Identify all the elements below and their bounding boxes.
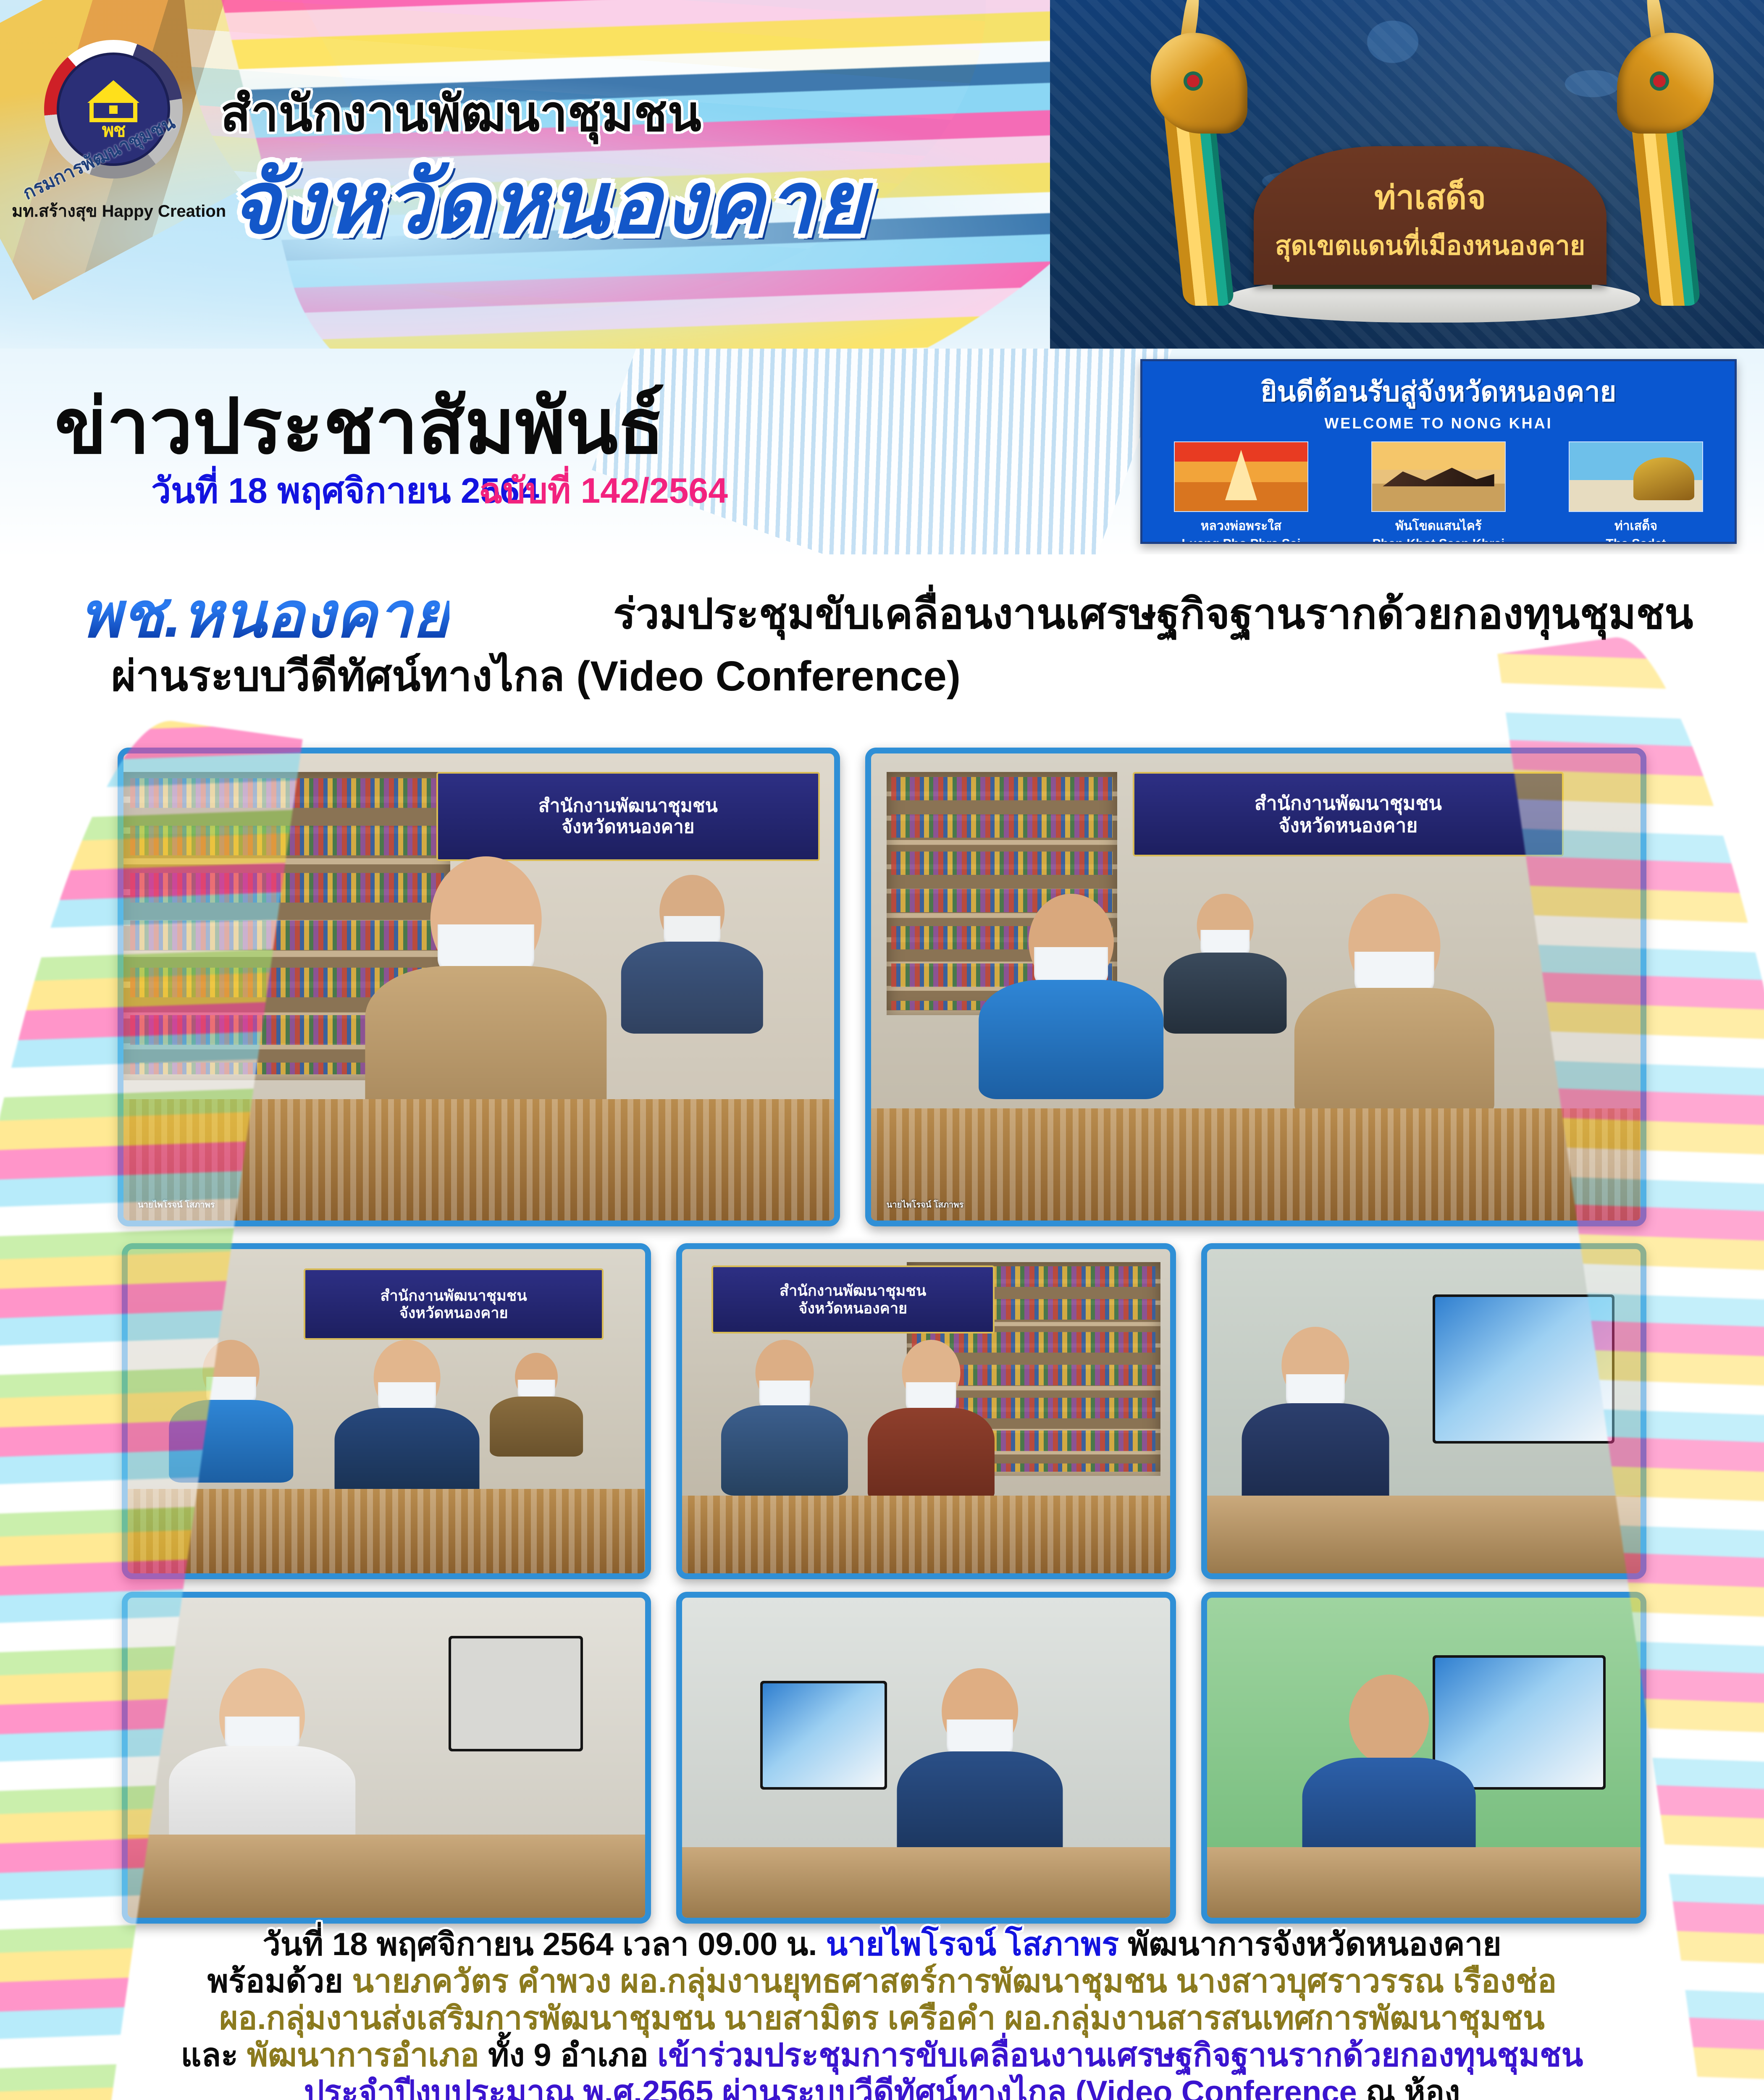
naga-sign-line1: ท่าเสด็จ bbox=[1254, 171, 1606, 223]
body-text-run: ประจำปีงบประมาณ พ.ศ.2565 ผ่านระบบวีดีทัศ… bbox=[304, 2074, 1366, 2100]
poster-canvas: ท่าเสด็จ สุดเขตแดนที่เมืองหนองคาย พช กรม… bbox=[0, 0, 1764, 2100]
headline-secondary: ผ่านระบบวีดีทัศน์ทางไกล (Video Conferenc… bbox=[111, 643, 961, 709]
landmark-photo-tha-sadet bbox=[1569, 441, 1703, 512]
photo-6-printer bbox=[449, 1636, 583, 1751]
body-text-run: ผอ.กลุ่มงานส่งเสริมการพัฒนาชุมชน นายสามิ… bbox=[219, 2000, 1545, 2036]
photo-6[interactable] bbox=[122, 1592, 651, 1924]
body-text-run: และ bbox=[181, 2037, 247, 2073]
photo-1-banner-text: สำนักงานพัฒนาชุมชนจังหวัดหนองคาย bbox=[436, 772, 820, 861]
naga-sign: ท่าเสด็จ สุดเขตแดนที่เมืองหนองคาย bbox=[1254, 146, 1606, 285]
body-text-run: วันที่ 18 พฤศจิกายน 2564 เวลา 09.00 น. bbox=[262, 1927, 826, 1962]
photo-5-monitor bbox=[1433, 1294, 1614, 1444]
news-issue-number: ฉบับที่ 142/2564 bbox=[479, 462, 728, 518]
photo-7-monitor bbox=[760, 1681, 887, 1790]
landmark-photo-luang-pho-phra-sai bbox=[1174, 441, 1308, 512]
body-text-run: ทั้ง 9 อำเภอ bbox=[488, 2037, 657, 2073]
newsline-fan-decoration bbox=[592, 349, 1189, 559]
naga-serpent-right-icon bbox=[1613, 37, 1718, 306]
landmark-caption-th: พันโขดแสนไคร้ bbox=[1369, 516, 1508, 536]
welcome-banner-landmarks: หลวงพ่อพระใส Luang Pho Phra Sai พันโขดแส… bbox=[1142, 441, 1735, 544]
welcome-banner: ยินดีต้อนรับสู่จังหวัดหนองคาย WELCOME TO… bbox=[1140, 359, 1737, 544]
photo-2-credit: นายไพโรจน์ โสภาพร bbox=[887, 1198, 964, 1211]
landmark-item: หลวงพ่อพระใส Luang Pho Phra Sai bbox=[1172, 441, 1310, 544]
body-line-4: และ พัฒนาการอำเภอ ทั้ง 9 อำเภอ เข้าร่วมป… bbox=[0, 2039, 1764, 2073]
body-line-5: ประจำปีงบประมาณ พ.ศ.2565 ผ่านระบบวีดีทัศ… bbox=[0, 2076, 1764, 2100]
landmark-photo-phan-khot-saen-khrai bbox=[1371, 441, 1506, 512]
photo-4[interactable]: สำนักงานพัฒนาชุมชนจังหวัดหนองคาย bbox=[676, 1243, 1176, 1579]
photo-2[interactable]: สำนักงานพัฒนาชุมชนจังหวัดหนองคาย นายไพโร… bbox=[865, 748, 1646, 1226]
body-text-run: นายภควัตร คำพวง ผอ.กลุ่มงานยุทธศาสตร์การ… bbox=[352, 1963, 1557, 1999]
body-line-3: ผอ.กลุ่มงานส่งเสริมการพัฒนาชุมชน นายสามิ… bbox=[0, 2002, 1764, 2036]
photo-2-banner-text: สำนักงานพัฒนาชุมชนจังหวัดหนองคาย bbox=[1133, 772, 1564, 856]
photo-4-banner-text: สำนักงานพัฒนาชุมชนจังหวัดหนองคาย bbox=[711, 1265, 995, 1333]
photo-1[interactable]: สำนักงานพัฒนาชุมชนจังหวัดหนองคาย นายไพโร… bbox=[118, 748, 840, 1226]
body-text-run: นายไพโรจน์ โสภาพร bbox=[826, 1927, 1128, 1962]
body-text-run: พร้อมด้วย bbox=[207, 1963, 352, 1999]
landmark-caption-th: ท่าเสด็จ bbox=[1567, 516, 1705, 536]
landmark-item: ท่าเสด็จ Tha Sadet bbox=[1567, 441, 1705, 544]
body-text-run: เข้าร่วมประชุมการขับเคลื่อนงานเศรษฐกิจฐา… bbox=[657, 2037, 1583, 2073]
body-text-run: พัฒนาการอำเภอ bbox=[247, 2037, 488, 2073]
landmark-caption-en: Phan Khot Saen Khrai bbox=[1369, 537, 1508, 544]
headline-main: ร่วมประชุมขับเคลื่อนงานเศรษฐกิจฐานรากด้ว… bbox=[613, 580, 1693, 647]
welcome-banner-english: WELCOME TO NONG KHAI bbox=[1142, 415, 1735, 432]
landmark-caption-en: Luang Pho Phra Sai bbox=[1172, 537, 1310, 544]
photo-3-banner-text: สำนักงานพัฒนาชุมชนจังหวัดหนองคาย bbox=[304, 1268, 604, 1340]
body-text-run: ณ ห้อง bbox=[1366, 2074, 1460, 2100]
photo-7[interactable] bbox=[676, 1592, 1176, 1924]
photo-5[interactable] bbox=[1201, 1243, 1646, 1579]
welcome-banner-thai: ยินดีต้อนรับสู่จังหวัดหนองคาย bbox=[1142, 370, 1735, 414]
naga-serpent-left-icon bbox=[1147, 37, 1252, 306]
province-title: จังหวัดหนองคาย bbox=[229, 134, 868, 270]
landmark-caption-en: Tha Sadet bbox=[1567, 537, 1705, 544]
body-line-1: วันที่ 18 พฤศจิกายน 2564 เวลา 09.00 น. น… bbox=[0, 1928, 1764, 1962]
body-text-run: พัฒนาการจังหวัดหนองคาย bbox=[1128, 1927, 1501, 1962]
landmark-item: พันโขดแสนไคร้ Phan Khot Saen Khrai bbox=[1369, 441, 1508, 544]
photo-1-credit: นายไพโรจน์ โสภาพร bbox=[138, 1198, 215, 1211]
naga-monument-graphic: ท่าเสด็จ สุดเขตแดนที่เมืองหนองคาย bbox=[1134, 8, 1730, 339]
happy-creation-tagline: มท.สร้างสุข Happy Creation bbox=[12, 197, 226, 224]
landmark-caption-th: หลวงพ่อพระใส bbox=[1172, 516, 1310, 536]
body-line-2: พร้อมด้วย นายภควัตร คำพวง ผอ.กลุ่มงานยุท… bbox=[0, 1965, 1764, 1999]
body-text-block: วันที่ 18 พฤศจิกายน 2564 เวลา 09.00 น. น… bbox=[0, 1928, 1764, 2100]
photo-gallery: สำนักงานพัฒนาชุมชนจังหวัดหนองคาย นายไพโร… bbox=[0, 748, 1764, 1940]
photo-3[interactable]: สำนักงานพัฒนาชุมชนจังหวัดหนองคาย bbox=[122, 1243, 651, 1579]
naga-sign-line2: สุดเขตแดนที่เมืองหนองคาย bbox=[1254, 225, 1606, 266]
photo-8[interactable] bbox=[1201, 1592, 1646, 1924]
